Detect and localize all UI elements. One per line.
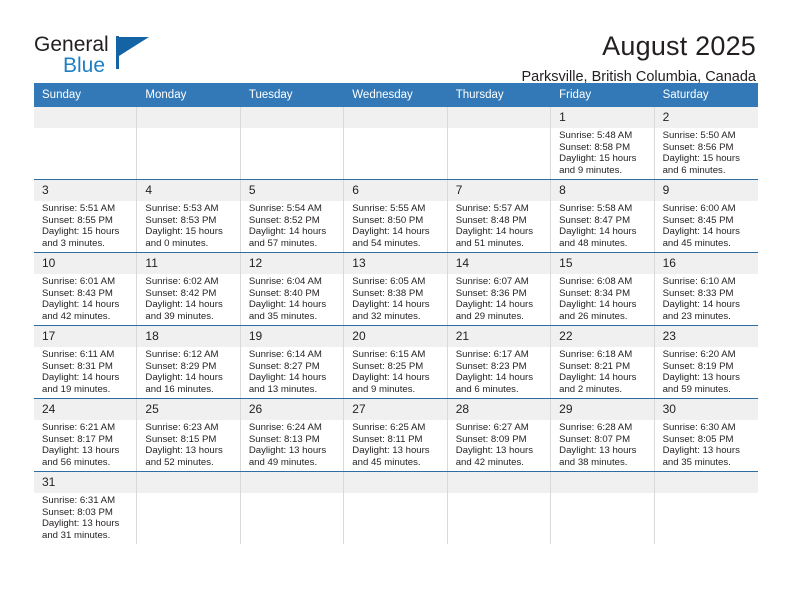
day-number <box>655 472 758 493</box>
day-number: 4 <box>137 180 239 201</box>
calendar-body: 1Sunrise: 5:48 AMSunset: 8:58 PMDaylight… <box>34 107 758 544</box>
day-number: 22 <box>551 326 653 347</box>
sunrise-text: Sunrise: 6:18 AM <box>559 349 649 361</box>
day-cell[interactable]: 28Sunrise: 6:27 AMSunset: 8:09 PMDayligh… <box>448 399 551 471</box>
daylight-text: Daylight: 14 hours and 16 minutes. <box>145 372 235 395</box>
day-number: 16 <box>655 253 758 274</box>
sunrise-text: Sunrise: 6:24 AM <box>249 422 339 434</box>
sunset-text: Sunset: 8:42 PM <box>145 288 235 300</box>
day-number: 7 <box>448 180 550 201</box>
weekday-header-monday: Monday <box>137 83 240 107</box>
day-details: Sunrise: 6:21 AMSunset: 8:17 PMDaylight:… <box>34 420 136 468</box>
day-details: Sunrise: 5:55 AMSunset: 8:50 PMDaylight:… <box>344 201 446 249</box>
day-details: Sunrise: 6:23 AMSunset: 8:15 PMDaylight:… <box>137 420 239 468</box>
sunset-text: Sunset: 8:09 PM <box>456 434 546 446</box>
sunset-text: Sunset: 8:58 PM <box>559 142 649 154</box>
sunset-text: Sunset: 8:52 PM <box>249 215 339 227</box>
sunrise-text: Sunrise: 6:15 AM <box>352 349 442 361</box>
day-details: Sunrise: 6:08 AMSunset: 8:34 PMDaylight:… <box>551 274 653 322</box>
page-title: August 2025 <box>521 30 756 62</box>
day-cell-empty <box>655 472 758 544</box>
day-cell[interactable]: 19Sunrise: 6:14 AMSunset: 8:27 PMDayligh… <box>241 326 344 398</box>
day-cell[interactable]: 15Sunrise: 6:08 AMSunset: 8:34 PMDayligh… <box>551 253 654 325</box>
day-cell-empty <box>137 107 240 179</box>
sunrise-text: Sunrise: 6:14 AM <box>249 349 339 361</box>
sunset-text: Sunset: 8:47 PM <box>559 215 649 227</box>
day-cell[interactable]: 5Sunrise: 5:54 AMSunset: 8:52 PMDaylight… <box>241 180 344 252</box>
daylight-text: Daylight: 14 hours and 2 minutes. <box>559 372 649 395</box>
day-number: 23 <box>655 326 758 347</box>
sunrise-text: Sunrise: 6:01 AM <box>42 276 132 288</box>
sunset-text: Sunset: 8:07 PM <box>559 434 649 446</box>
day-number: 21 <box>448 326 550 347</box>
daylight-text: Daylight: 13 hours and 45 minutes. <box>352 445 442 468</box>
sunrise-text: Sunrise: 5:51 AM <box>42 203 132 215</box>
day-number: 11 <box>137 253 239 274</box>
day-number: 12 <box>241 253 343 274</box>
weekday-header-thursday: Thursday <box>448 83 551 107</box>
sunset-text: Sunset: 8:53 PM <box>145 215 235 227</box>
sunset-text: Sunset: 8:17 PM <box>42 434 132 446</box>
daylight-text: Daylight: 14 hours and 54 minutes. <box>352 226 442 249</box>
day-details: Sunrise: 6:17 AMSunset: 8:23 PMDaylight:… <box>448 347 550 395</box>
day-cell[interactable]: 13Sunrise: 6:05 AMSunset: 8:38 PMDayligh… <box>344 253 447 325</box>
daylight-text: Daylight: 14 hours and 42 minutes. <box>42 299 132 322</box>
sunset-text: Sunset: 8:13 PM <box>249 434 339 446</box>
daylight-text: Daylight: 15 hours and 9 minutes. <box>559 153 649 176</box>
sunrise-text: Sunrise: 6:10 AM <box>663 276 754 288</box>
sunrise-text: Sunrise: 6:05 AM <box>352 276 442 288</box>
calendar-grid: SundayMondayTuesdayWednesdayThursdayFrid… <box>34 83 758 544</box>
day-cell[interactable]: 30Sunrise: 6:30 AMSunset: 8:05 PMDayligh… <box>655 399 758 471</box>
sunrise-text: Sunrise: 6:00 AM <box>663 203 754 215</box>
daylight-text: Daylight: 13 hours and 52 minutes. <box>145 445 235 468</box>
day-number <box>241 107 343 128</box>
day-cell[interactable]: 21Sunrise: 6:17 AMSunset: 8:23 PMDayligh… <box>448 326 551 398</box>
sunrise-text: Sunrise: 5:57 AM <box>456 203 546 215</box>
sunset-text: Sunset: 8:45 PM <box>663 215 754 227</box>
weekday-header-row: SundayMondayTuesdayWednesdayThursdayFrid… <box>34 83 758 107</box>
day-number: 27 <box>344 399 446 420</box>
sunset-text: Sunset: 8:27 PM <box>249 361 339 373</box>
title-block: August 2025 Parksville, British Columbia… <box>521 30 758 88</box>
day-number: 15 <box>551 253 653 274</box>
daylight-text: Daylight: 13 hours and 35 minutes. <box>663 445 754 468</box>
day-cell[interactable]: 22Sunrise: 6:18 AMSunset: 8:21 PMDayligh… <box>551 326 654 398</box>
sunrise-text: Sunrise: 6:17 AM <box>456 349 546 361</box>
day-details: Sunrise: 6:02 AMSunset: 8:42 PMDaylight:… <box>137 274 239 322</box>
calendar-week-row: 31Sunrise: 6:31 AMSunset: 8:03 PMDayligh… <box>34 471 758 544</box>
day-cell[interactable]: 11Sunrise: 6:02 AMSunset: 8:42 PMDayligh… <box>137 253 240 325</box>
day-details: Sunrise: 6:01 AMSunset: 8:43 PMDaylight:… <box>34 274 136 322</box>
day-details: Sunrise: 5:48 AMSunset: 8:58 PMDaylight:… <box>551 128 653 176</box>
day-cell[interactable]: 10Sunrise: 6:01 AMSunset: 8:43 PMDayligh… <box>34 253 137 325</box>
sunset-text: Sunset: 8:31 PM <box>42 361 132 373</box>
day-number: 2 <box>655 107 758 128</box>
day-cell[interactable]: 23Sunrise: 6:20 AMSunset: 8:19 PMDayligh… <box>655 326 758 398</box>
day-cell[interactable]: 2Sunrise: 5:50 AMSunset: 8:56 PMDaylight… <box>655 107 758 179</box>
day-number <box>137 472 239 493</box>
sunset-text: Sunset: 8:21 PM <box>559 361 649 373</box>
daylight-text: Daylight: 14 hours and 23 minutes. <box>663 299 754 322</box>
day-cell[interactable]: 27Sunrise: 6:25 AMSunset: 8:11 PMDayligh… <box>344 399 447 471</box>
day-number <box>551 472 653 493</box>
sunset-text: Sunset: 8:05 PM <box>663 434 754 446</box>
day-details: Sunrise: 5:54 AMSunset: 8:52 PMDaylight:… <box>241 201 343 249</box>
day-number <box>448 107 550 128</box>
day-details: Sunrise: 6:04 AMSunset: 8:40 PMDaylight:… <box>241 274 343 322</box>
sunrise-text: Sunrise: 5:50 AM <box>663 130 754 142</box>
daylight-text: Daylight: 14 hours and 26 minutes. <box>559 299 649 322</box>
sunrise-text: Sunrise: 6:12 AM <box>145 349 235 361</box>
triangle-flag-icon <box>119 37 149 56</box>
daylight-text: Daylight: 14 hours and 29 minutes. <box>456 299 546 322</box>
sunset-text: Sunset: 8:25 PM <box>352 361 442 373</box>
sunset-text: Sunset: 8:15 PM <box>145 434 235 446</box>
daylight-text: Daylight: 15 hours and 3 minutes. <box>42 226 132 249</box>
sunrise-text: Sunrise: 6:11 AM <box>42 349 132 361</box>
daylight-text: Daylight: 14 hours and 57 minutes. <box>249 226 339 249</box>
day-cell[interactable]: 7Sunrise: 5:57 AMSunset: 8:48 PMDaylight… <box>448 180 551 252</box>
day-details: Sunrise: 6:30 AMSunset: 8:05 PMDaylight:… <box>655 420 758 468</box>
calendar-page: General Blue August 2025 Parksville, Bri… <box>0 0 792 612</box>
day-number: 28 <box>448 399 550 420</box>
day-details: Sunrise: 6:24 AMSunset: 8:13 PMDaylight:… <box>241 420 343 468</box>
weekday-header-saturday: Saturday <box>655 83 758 107</box>
daylight-text: Daylight: 13 hours and 49 minutes. <box>249 445 339 468</box>
weekday-header-wednesday: Wednesday <box>344 83 447 107</box>
daylight-text: Daylight: 14 hours and 35 minutes. <box>249 299 339 322</box>
day-number: 29 <box>551 399 653 420</box>
sunrise-text: Sunrise: 5:48 AM <box>559 130 649 142</box>
day-number: 26 <box>241 399 343 420</box>
day-cell[interactable]: 18Sunrise: 6:12 AMSunset: 8:29 PMDayligh… <box>137 326 240 398</box>
sunrise-text: Sunrise: 5:53 AM <box>145 203 235 215</box>
daylight-text: Daylight: 14 hours and 6 minutes. <box>456 372 546 395</box>
day-number <box>137 107 239 128</box>
day-details: Sunrise: 5:50 AMSunset: 8:56 PMDaylight:… <box>655 128 758 176</box>
daylight-text: Daylight: 14 hours and 13 minutes. <box>249 372 339 395</box>
day-cell[interactable]: 4Sunrise: 5:53 AMSunset: 8:53 PMDaylight… <box>137 180 240 252</box>
sunrise-text: Sunrise: 6:28 AM <box>559 422 649 434</box>
day-details: Sunrise: 6:12 AMSunset: 8:29 PMDaylight:… <box>137 347 239 395</box>
sunrise-text: Sunrise: 6:08 AM <box>559 276 649 288</box>
sunset-text: Sunset: 8:34 PM <box>559 288 649 300</box>
day-details: Sunrise: 6:15 AMSunset: 8:25 PMDaylight:… <box>344 347 446 395</box>
sunrise-text: Sunrise: 6:04 AM <box>249 276 339 288</box>
daylight-text: Daylight: 14 hours and 32 minutes. <box>352 299 442 322</box>
sunset-text: Sunset: 8:23 PM <box>456 361 546 373</box>
sunset-text: Sunset: 8:55 PM <box>42 215 132 227</box>
sunrise-text: Sunrise: 6:30 AM <box>663 422 754 434</box>
day-number: 8 <box>551 180 653 201</box>
day-details: Sunrise: 6:31 AMSunset: 8:03 PMDaylight:… <box>34 493 136 541</box>
day-cell[interactable]: 25Sunrise: 6:23 AMSunset: 8:15 PMDayligh… <box>137 399 240 471</box>
sunrise-text: Sunrise: 6:31 AM <box>42 495 132 507</box>
day-number: 13 <box>344 253 446 274</box>
day-number <box>344 107 446 128</box>
day-details: Sunrise: 6:18 AMSunset: 8:21 PMDaylight:… <box>551 347 653 395</box>
sunrise-text: Sunrise: 6:21 AM <box>42 422 132 434</box>
page-header: General Blue August 2025 Parksville, Bri… <box>0 0 792 73</box>
day-number: 9 <box>655 180 758 201</box>
sunrise-text: Sunrise: 6:23 AM <box>145 422 235 434</box>
day-cell-empty <box>344 472 447 544</box>
calendar-week-row: 3Sunrise: 5:51 AMSunset: 8:55 PMDaylight… <box>34 179 758 252</box>
day-number: 5 <box>241 180 343 201</box>
day-details: Sunrise: 5:51 AMSunset: 8:55 PMDaylight:… <box>34 201 136 249</box>
day-cell-empty <box>448 107 551 179</box>
sunrise-text: Sunrise: 5:55 AM <box>352 203 442 215</box>
sunset-text: Sunset: 8:50 PM <box>352 215 442 227</box>
day-cell-empty <box>241 472 344 544</box>
day-cell[interactable]: 9Sunrise: 6:00 AMSunset: 8:45 PMDaylight… <box>655 180 758 252</box>
day-cell-empty <box>344 107 447 179</box>
day-number <box>241 472 343 493</box>
sunrise-text: Sunrise: 5:58 AM <box>559 203 649 215</box>
day-cell[interactable]: 8Sunrise: 5:58 AMSunset: 8:47 PMDaylight… <box>551 180 654 252</box>
day-cell[interactable]: 1Sunrise: 5:48 AMSunset: 8:58 PMDaylight… <box>551 107 654 179</box>
daylight-text: Daylight: 13 hours and 56 minutes. <box>42 445 132 468</box>
day-details: Sunrise: 6:07 AMSunset: 8:36 PMDaylight:… <box>448 274 550 322</box>
day-number: 6 <box>344 180 446 201</box>
weekday-header-tuesday: Tuesday <box>241 83 344 107</box>
sunset-text: Sunset: 8:11 PM <box>352 434 442 446</box>
day-number: 14 <box>448 253 550 274</box>
daylight-text: Daylight: 13 hours and 59 minutes. <box>663 372 754 395</box>
day-number: 24 <box>34 399 136 420</box>
sunset-text: Sunset: 8:48 PM <box>456 215 546 227</box>
daylight-text: Daylight: 14 hours and 9 minutes. <box>352 372 442 395</box>
day-number <box>34 107 136 128</box>
sunset-text: Sunset: 8:43 PM <box>42 288 132 300</box>
daylight-text: Daylight: 13 hours and 38 minutes. <box>559 445 649 468</box>
day-cell[interactable]: 17Sunrise: 6:11 AMSunset: 8:31 PMDayligh… <box>34 326 137 398</box>
brand-name-blue: Blue <box>63 56 164 76</box>
sunset-text: Sunset: 8:40 PM <box>249 288 339 300</box>
sunrise-text: Sunrise: 6:25 AM <box>352 422 442 434</box>
day-number: 3 <box>34 180 136 201</box>
day-details: Sunrise: 5:58 AMSunset: 8:47 PMDaylight:… <box>551 201 653 249</box>
calendar-week-row: 1Sunrise: 5:48 AMSunset: 8:58 PMDaylight… <box>34 107 758 179</box>
sunrise-text: Sunrise: 5:54 AM <box>249 203 339 215</box>
daylight-text: Daylight: 13 hours and 42 minutes. <box>456 445 546 468</box>
sunset-text: Sunset: 8:38 PM <box>352 288 442 300</box>
calendar-week-row: 17Sunrise: 6:11 AMSunset: 8:31 PMDayligh… <box>34 325 758 398</box>
day-cell[interactable]: 31Sunrise: 6:31 AMSunset: 8:03 PMDayligh… <box>34 472 137 544</box>
day-cell[interactable]: 3Sunrise: 5:51 AMSunset: 8:55 PMDaylight… <box>34 180 137 252</box>
day-number: 20 <box>344 326 446 347</box>
sunrise-text: Sunrise: 6:20 AM <box>663 349 754 361</box>
day-details: Sunrise: 5:53 AMSunset: 8:53 PMDaylight:… <box>137 201 239 249</box>
day-cell-empty <box>137 472 240 544</box>
sunset-text: Sunset: 8:19 PM <box>663 361 754 373</box>
day-details: Sunrise: 6:25 AMSunset: 8:11 PMDaylight:… <box>344 420 446 468</box>
day-cell[interactable]: 6Sunrise: 5:55 AMSunset: 8:50 PMDaylight… <box>344 180 447 252</box>
day-cell-empty <box>34 107 137 179</box>
day-number: 31 <box>34 472 136 493</box>
weekday-header-sunday: Sunday <box>34 83 137 107</box>
day-number: 18 <box>137 326 239 347</box>
day-details: Sunrise: 5:57 AMSunset: 8:48 PMDaylight:… <box>448 201 550 249</box>
day-number <box>344 472 446 493</box>
day-cell-empty <box>241 107 344 179</box>
day-details: Sunrise: 6:27 AMSunset: 8:09 PMDaylight:… <box>448 420 550 468</box>
day-cell-empty <box>551 472 654 544</box>
day-number <box>448 472 550 493</box>
day-number: 30 <box>655 399 758 420</box>
day-cell[interactable]: 12Sunrise: 6:04 AMSunset: 8:40 PMDayligh… <box>241 253 344 325</box>
sunset-text: Sunset: 8:36 PM <box>456 288 546 300</box>
brand-logo[interactable]: General Blue <box>34 30 164 78</box>
day-details: Sunrise: 6:10 AMSunset: 8:33 PMDaylight:… <box>655 274 758 322</box>
day-number: 10 <box>34 253 136 274</box>
sunrise-text: Sunrise: 6:07 AM <box>456 276 546 288</box>
day-details: Sunrise: 6:14 AMSunset: 8:27 PMDaylight:… <box>241 347 343 395</box>
day-details: Sunrise: 6:28 AMSunset: 8:07 PMDaylight:… <box>551 420 653 468</box>
sunset-text: Sunset: 8:03 PM <box>42 507 132 519</box>
daylight-text: Daylight: 15 hours and 6 minutes. <box>663 153 754 176</box>
sunset-text: Sunset: 8:56 PM <box>663 142 754 154</box>
weekday-header-friday: Friday <box>551 83 654 107</box>
day-details: Sunrise: 6:05 AMSunset: 8:38 PMDaylight:… <box>344 274 446 322</box>
day-cell-empty <box>448 472 551 544</box>
day-number: 1 <box>551 107 653 128</box>
calendar-week-row: 24Sunrise: 6:21 AMSunset: 8:17 PMDayligh… <box>34 398 758 471</box>
day-cell[interactable]: 24Sunrise: 6:21 AMSunset: 8:17 PMDayligh… <box>34 399 137 471</box>
day-details: Sunrise: 6:11 AMSunset: 8:31 PMDaylight:… <box>34 347 136 395</box>
day-details: Sunrise: 6:00 AMSunset: 8:45 PMDaylight:… <box>655 201 758 249</box>
sunrise-text: Sunrise: 6:02 AM <box>145 276 235 288</box>
day-number: 17 <box>34 326 136 347</box>
brand-name-general: General <box>34 33 109 56</box>
daylight-text: Daylight: 15 hours and 0 minutes. <box>145 226 235 249</box>
day-cell[interactable]: 26Sunrise: 6:24 AMSunset: 8:13 PMDayligh… <box>241 399 344 471</box>
day-cell[interactable]: 20Sunrise: 6:15 AMSunset: 8:25 PMDayligh… <box>344 326 447 398</box>
day-details: Sunrise: 6:20 AMSunset: 8:19 PMDaylight:… <box>655 347 758 395</box>
sunset-text: Sunset: 8:33 PM <box>663 288 754 300</box>
day-cell[interactable]: 29Sunrise: 6:28 AMSunset: 8:07 PMDayligh… <box>551 399 654 471</box>
day-number: 19 <box>241 326 343 347</box>
sunset-text: Sunset: 8:29 PM <box>145 361 235 373</box>
daylight-text: Daylight: 14 hours and 51 minutes. <box>456 226 546 249</box>
daylight-text: Daylight: 14 hours and 45 minutes. <box>663 226 754 249</box>
day-cell[interactable]: 14Sunrise: 6:07 AMSunset: 8:36 PMDayligh… <box>448 253 551 325</box>
daylight-text: Daylight: 13 hours and 31 minutes. <box>42 518 132 541</box>
daylight-text: Daylight: 14 hours and 48 minutes. <box>559 226 649 249</box>
day-cell[interactable]: 16Sunrise: 6:10 AMSunset: 8:33 PMDayligh… <box>655 253 758 325</box>
daylight-text: Daylight: 14 hours and 19 minutes. <box>42 372 132 395</box>
sunrise-text: Sunrise: 6:27 AM <box>456 422 546 434</box>
day-number: 25 <box>137 399 239 420</box>
calendar-week-row: 10Sunrise: 6:01 AMSunset: 8:43 PMDayligh… <box>34 252 758 325</box>
daylight-text: Daylight: 14 hours and 39 minutes. <box>145 299 235 322</box>
